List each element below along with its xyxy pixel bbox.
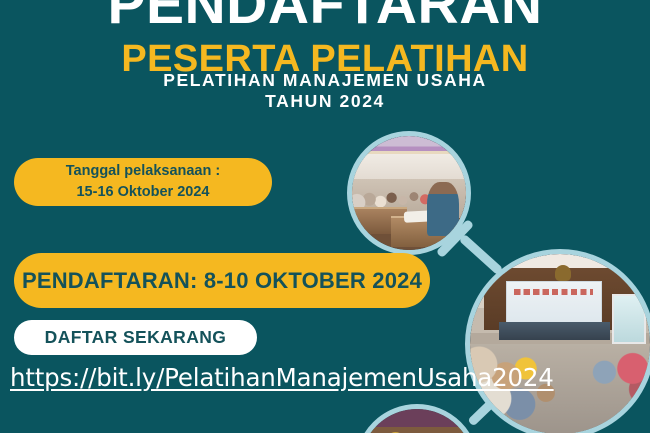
photo-circle-training-room bbox=[347, 131, 471, 255]
event-date-badge: Tanggal pelaksanaan : 15-16 Oktober 2024 bbox=[14, 158, 272, 206]
photo-circle-stage-partial bbox=[355, 404, 479, 433]
subtitle-line-1: PELATIHAN MANAJEMEN USAHA bbox=[0, 70, 650, 91]
poster-subtitle: PELATIHAN MANAJEMEN USAHA TAHUN 2024 bbox=[0, 70, 650, 113]
registration-period-badge: PENDAFTARAN: 8-10 OKTOBER 2024 bbox=[14, 253, 430, 308]
poster-headline: PENDAFTARAN PESERTA PELATIHAN bbox=[0, 0, 650, 78]
subtitle-line-2: TAHUN 2024 bbox=[0, 91, 650, 112]
event-date-label: Tanggal pelaksanaan : bbox=[66, 161, 220, 182]
photo-image-3 bbox=[360, 409, 474, 433]
event-date-value: 15-16 Oktober 2024 bbox=[66, 182, 220, 203]
registration-link[interactable]: https://bit.ly/PelatihanManajemenUsaha20… bbox=[10, 363, 554, 392]
title-main: PENDAFTARAN bbox=[0, 0, 650, 33]
poster-canvas: PENDAFTARAN PESERTA PELATIHAN PELATIHAN … bbox=[0, 0, 650, 433]
photo-image-1 bbox=[352, 136, 466, 250]
photo-image-2 bbox=[470, 254, 650, 433]
register-now-button[interactable]: DAFTAR SEKARANG bbox=[14, 320, 257, 355]
photo-circle-seminar-hall bbox=[465, 249, 650, 433]
